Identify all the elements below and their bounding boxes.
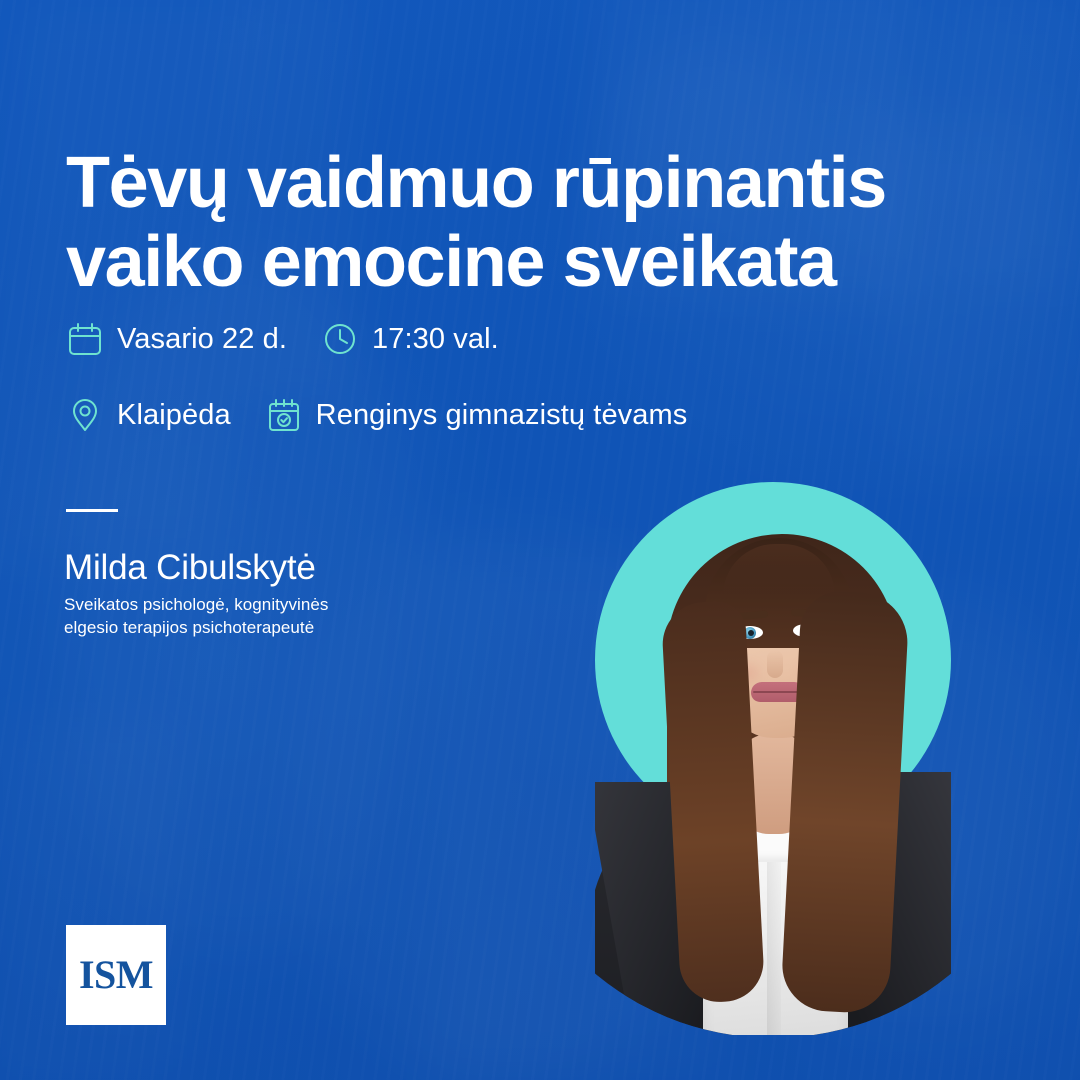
- event-poster: Tėvų vaidmuo rūpinantis vaiko emocine sv…: [0, 0, 1080, 1080]
- event-audience: Renginys gimnazistų tėvams: [265, 396, 688, 434]
- event-meta-row-place-audience: Klaipėda Renginys gimnazistų tėvams: [66, 396, 687, 434]
- speaker-divider: [66, 509, 118, 512]
- speaker-photo: [595, 482, 951, 1035]
- event-audience-label: Renginys gimnazistų tėvams: [316, 399, 688, 432]
- clock-icon: [321, 320, 359, 358]
- event-meta-row-date-time: Vasario 22 d. 17:30 val.: [66, 320, 499, 358]
- calendar-check-icon: [265, 396, 303, 434]
- event-time: 17:30 val.: [321, 320, 499, 358]
- event-date: Vasario 22 d.: [66, 320, 287, 358]
- page-title: Tėvų vaidmuo rūpinantis vaiko emocine sv…: [66, 144, 1026, 302]
- event-location: Klaipėda: [66, 396, 231, 434]
- title-line-2: vaiko emocine sveikata: [66, 223, 1026, 302]
- ism-logo: ISM: [66, 925, 166, 1025]
- event-time-label: 17:30 val.: [372, 323, 499, 356]
- calendar-icon: [66, 320, 104, 358]
- location-pin-icon: [66, 396, 104, 434]
- speaker-role-line-1: Sveikatos psichologė, kognityvinės: [64, 594, 484, 617]
- speaker-name: Milda Cibulskytė: [64, 548, 316, 588]
- speaker-role: Sveikatos psichologė, kognityvinės elges…: [64, 594, 484, 640]
- title-line-1: Tėvų vaidmuo rūpinantis: [66, 144, 1026, 223]
- speaker-role-line-2: elgesio terapijos psichoterapeutė: [64, 617, 484, 640]
- speaker-portrait-illustration: [595, 482, 951, 1035]
- event-location-label: Klaipėda: [117, 399, 231, 432]
- event-date-label: Vasario 22 d.: [117, 323, 287, 356]
- ism-logo-text: ISM: [79, 955, 153, 995]
